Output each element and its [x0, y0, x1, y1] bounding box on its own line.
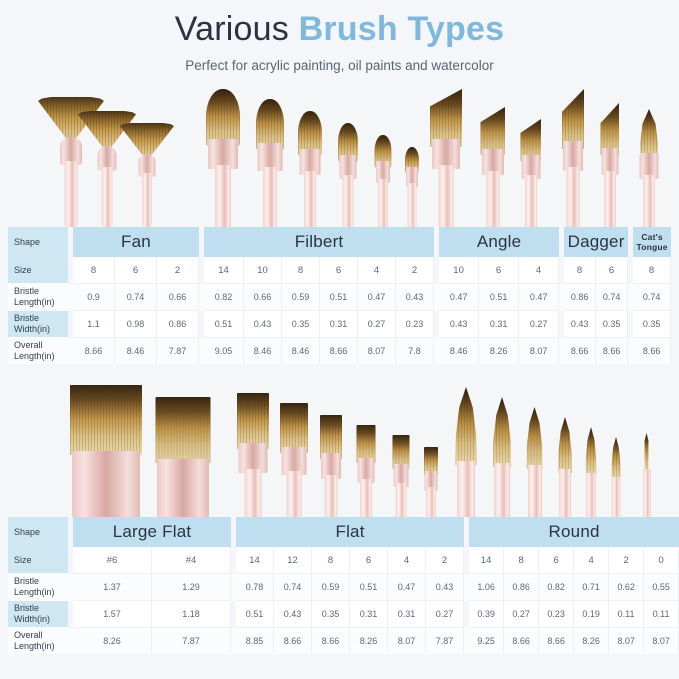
ferrule [72, 451, 140, 517]
section-spacer [0, 364, 679, 382]
handle [528, 465, 542, 517]
group-header-filbert: Filbert [204, 227, 434, 257]
brush-liner-1 [642, 421, 651, 517]
page-subtitle: Perfect for acrylic painting, oil paints… [0, 56, 679, 76]
cell-size: 2 [157, 257, 199, 284]
cell-bristle-length: 0.43 [396, 284, 434, 311]
cell-bristle-length: 0.82 [204, 284, 244, 311]
brush-fan-2 [120, 111, 174, 227]
group-header-large-flat: Large Flat [73, 517, 231, 547]
cell-size: 8 [504, 547, 539, 574]
brush-large-flat-6 [70, 385, 142, 517]
cell-bristle-length: 0.43 [426, 574, 464, 601]
cell-size: #4 [152, 547, 231, 574]
cell-bristle-width: 0.43 [244, 311, 282, 338]
handle [612, 477, 621, 517]
cell-overall-length: 8.26 [350, 628, 388, 654]
page-title: Various Brush Types [0, 8, 679, 50]
handle [486, 171, 499, 227]
cell-bristle-length: 0.74 [596, 284, 628, 311]
table-row-overall-length: OverallLength(in) 8.26 7.87 8.85 8.66 8.… [8, 628, 679, 654]
cell-size: 8 [564, 257, 596, 284]
group-header-fan: Fan [73, 227, 199, 257]
group-header-round: Round [469, 517, 679, 547]
cell-size: 6 [350, 547, 388, 574]
cell-bristle-width: 0.98 [115, 311, 157, 338]
row-label-line2: Length(in) [14, 587, 68, 598]
cell-overall-length: 7.8 [396, 338, 434, 364]
handle [378, 179, 388, 227]
cell-overall-length: 8.66 [320, 338, 358, 364]
cell-bristle-length: 0.47 [519, 284, 559, 311]
cell-bristle-width: 0.35 [282, 311, 320, 338]
cell-overall-length: 7.87 [152, 628, 231, 654]
cell-overall-length: 8.66 [633, 338, 671, 364]
cell-bristle-length: 0.9 [73, 284, 115, 311]
cell-overall-length: 8.85 [236, 628, 274, 654]
spec-table-2: Shape Large Flat Flat Round Liner Size #… [8, 517, 679, 654]
cell-bristle-length: 1.37 [73, 574, 152, 601]
handle [426, 487, 436, 517]
cell-bristle-length: 0.59 [312, 574, 350, 601]
row-label-bristle-width: BristleWidth(in) [8, 311, 68, 338]
spec-table-1-wrap: Shape Fan Filbert Angle Dagger Cat's Ton… [0, 227, 679, 364]
cell-bristle-width: 0.39 [469, 601, 504, 628]
bristle-head-icon [70, 385, 142, 455]
cell-overall-length: 8.07 [358, 338, 396, 364]
table-row-bristle-width: BristleWidth(in) 1.57 1.18 0.51 0.43 0.3… [8, 601, 679, 628]
cell-overall-length: 7.87 [157, 338, 199, 364]
cell-size: 4 [519, 257, 559, 284]
cell-bristle-length: 0.59 [282, 284, 320, 311]
cell-bristle-width: 0.19 [574, 601, 609, 628]
brush-filbert-8 [298, 102, 322, 227]
handle [559, 469, 571, 517]
cell-overall-length: 8.26 [574, 628, 609, 654]
cell-size: 2 [609, 547, 644, 574]
cell-bristle-width: 0.43 [564, 311, 596, 338]
cell-bristle-width: 0.43 [274, 601, 312, 628]
cell-bristle-width: 1.1 [73, 311, 115, 338]
brush-round-8 [490, 395, 514, 517]
ferrule [157, 459, 209, 517]
cell-size: #6 [73, 547, 152, 574]
handle [343, 175, 354, 227]
cell-size: 4 [574, 547, 609, 574]
cell-size: 8 [282, 257, 320, 284]
cell-bristle-length: 1.29 [152, 574, 231, 601]
cell-bristle-width: 0.27 [426, 601, 464, 628]
bristle-head-icon [490, 397, 514, 467]
cell-bristle-length: 0.66 [244, 284, 282, 311]
handle [604, 171, 616, 227]
cell-size: 10 [244, 257, 282, 284]
brush-filbert-4 [374, 122, 391, 227]
cell-bristle-width: 0.31 [350, 601, 388, 628]
brush-large-flat-4 [155, 395, 210, 517]
cell-overall-length: 8.66 [504, 628, 539, 654]
table-row-size: Size #6 #4 14 12 8 6 4 2 14 8 6 4 2 [8, 547, 679, 574]
brush-round-6 [524, 405, 545, 517]
cell-size: 6 [539, 547, 574, 574]
cell-bristle-width: 0.51 [204, 311, 244, 338]
cell-bristle-length: 0.74 [633, 284, 671, 311]
brush-photo-strip-1 [0, 82, 679, 227]
handle [586, 473, 596, 517]
row-label-line1: Bristle [14, 603, 68, 614]
row-label-size: Size [8, 547, 68, 574]
row-label-line1: Overall [14, 630, 68, 641]
cell-size: 6 [320, 257, 358, 284]
bristle-head-icon [643, 433, 650, 471]
brush-round-2 [584, 425, 598, 517]
group-header-dagger: Dagger [564, 227, 628, 257]
cell-bristle-width: 0.35 [312, 601, 350, 628]
table-row-shape: Shape Fan Filbert Angle Dagger Cat's Ton… [8, 227, 671, 257]
cell-size: 14 [204, 257, 244, 284]
cell-overall-length: 8.46 [244, 338, 282, 364]
brush-filbert-6 [338, 112, 358, 227]
cell-bristle-width: 0.43 [439, 311, 479, 338]
cell-overall-length: 8.66 [73, 338, 115, 364]
cell-overall-length: 8.46 [282, 338, 320, 364]
row-label-shape: Shape [8, 517, 68, 547]
row-label-line2: Length(in) [14, 351, 68, 362]
brush-photo-strip-2 [0, 382, 679, 517]
cell-bristle-length: 0.51 [320, 284, 358, 311]
cell-bristle-width: 1.57 [73, 601, 152, 628]
row-label-line1: Bristle [14, 286, 68, 297]
row-label-line2: Width(in) [14, 614, 68, 625]
handle [643, 175, 655, 227]
row-label-bristle-length: BristleLength(in) [8, 574, 68, 601]
cell-overall-length: 8.07 [644, 628, 679, 654]
cell-size: 12 [274, 547, 312, 574]
handle [325, 475, 338, 517]
cell-bristle-width: 0.27 [519, 311, 559, 338]
table-row-shape: Shape Large Flat Flat Round Liner [8, 517, 679, 547]
bristle-head-icon [237, 393, 269, 449]
cell-bristle-width: 0.27 [504, 601, 539, 628]
bristle-head-icon [524, 407, 545, 469]
cell-bristle-length: 0.51 [350, 574, 388, 601]
cell-bristle-width: 0.31 [479, 311, 519, 338]
cell-size: 6 [115, 257, 157, 284]
bristle-head-icon [556, 417, 574, 473]
handle [457, 461, 475, 517]
brush-round-0 [610, 433, 622, 517]
handle [494, 463, 510, 517]
cell-size: 14 [236, 547, 274, 574]
cell-overall-length: 8.26 [73, 628, 152, 654]
cell-bristle-width: 0.86 [157, 311, 199, 338]
brush-flat-12 [280, 397, 308, 517]
cell-bristle-width: 0.11 [644, 601, 679, 628]
cell-size: 14 [469, 547, 504, 574]
cell-bristle-length: 0.55 [644, 574, 679, 601]
brush-filbert-14 [206, 84, 240, 227]
handle [287, 471, 302, 517]
brush-photo-row-1 [0, 82, 679, 227]
cell-overall-length: 8.66 [312, 628, 350, 654]
brush-filbert-2 [405, 131, 419, 227]
cell-overall-length: 9.25 [469, 628, 504, 654]
cell-bristle-width: 1.18 [152, 601, 231, 628]
cell-size: 4 [358, 257, 396, 284]
cell-bristle-width: 0.27 [358, 311, 396, 338]
handle [567, 167, 580, 227]
brush-round-4 [556, 415, 574, 517]
page-title-accent: Brush Types [299, 10, 505, 48]
brush-cats-tongue-8 [638, 101, 660, 227]
bristle-head-icon [610, 437, 622, 479]
spec-table-1: Shape Fan Filbert Angle Dagger Cat's Ton… [8, 227, 671, 364]
cell-bristle-length: 0.78 [236, 574, 274, 601]
cell-bristle-width: 0.11 [609, 601, 644, 628]
table-row-overall-length: OverallLength(in) 8.66 8.46 7.87 9.05 8.… [8, 338, 671, 364]
brush-flat-4 [392, 423, 409, 517]
handle [525, 175, 537, 227]
brush-types-infographic: Various Brush Types Perfect for acrylic … [0, 0, 679, 679]
handle [408, 183, 417, 227]
cell-bristle-width: 0.35 [596, 311, 628, 338]
cell-size: 6 [596, 257, 628, 284]
bristle-head-icon [584, 427, 598, 475]
row-label-shape: Shape [8, 227, 68, 257]
cell-size: 4 [388, 547, 426, 574]
group-header-flat: Flat [236, 517, 464, 547]
bristle-head-icon [155, 397, 210, 463]
cell-overall-length: 8.07 [609, 628, 644, 654]
row-label-bristle-width: BristleWidth(in) [8, 601, 68, 628]
cell-bristle-width: 0.35 [633, 311, 671, 338]
handle [142, 173, 152, 227]
row-label-line2: Width(in) [14, 324, 68, 335]
cell-bristle-width: 0.23 [396, 311, 434, 338]
row-label-line2: Length(in) [14, 641, 68, 652]
cell-bristle-length: 0.82 [539, 574, 574, 601]
cell-overall-length: 8.66 [274, 628, 312, 654]
handle [65, 161, 78, 227]
cell-bristle-length: 0.74 [274, 574, 312, 601]
cell-size: 6 [479, 257, 519, 284]
handle [245, 469, 262, 517]
cell-overall-length: 8.46 [115, 338, 157, 364]
brush-round-14 [452, 385, 480, 517]
table-row-bristle-length: BristleLength(in) 0.9 0.74 0.66 0.82 0.6… [8, 284, 671, 311]
handle [263, 167, 277, 227]
cell-overall-length: 8.66 [539, 628, 574, 654]
cell-bristle-width: 0.23 [539, 601, 574, 628]
brush-flat-8 [320, 407, 342, 517]
page-title-plain: Various [175, 10, 299, 48]
table-row-bristle-length: BristleLength(in) 1.37 1.29 0.78 0.74 0.… [8, 574, 679, 601]
cell-bristle-length: 0.47 [439, 284, 479, 311]
cell-overall-length: 8.66 [596, 338, 628, 364]
brush-dagger-8 [562, 84, 584, 227]
table-row-size: Size 8 6 2 14 10 8 6 4 2 10 6 4 [8, 257, 671, 284]
row-label-size: Size [8, 257, 68, 284]
bristle-head-icon [280, 403, 308, 453]
row-label-line1: Bristle [14, 313, 68, 324]
handle [304, 171, 316, 227]
handle [395, 483, 406, 517]
cell-overall-length: 8.26 [479, 338, 519, 364]
handle [102, 167, 113, 227]
cell-bristle-width: 0.31 [320, 311, 358, 338]
cell-bristle-length: 0.71 [574, 574, 609, 601]
bristle-head-icon [480, 107, 505, 155]
cell-bristle-width: 0.31 [388, 601, 426, 628]
brush-angle-6 [480, 99, 505, 227]
cell-bristle-length: 0.51 [479, 284, 519, 311]
cell-overall-length: 8.07 [388, 628, 426, 654]
brush-dagger-6 [600, 97, 619, 227]
cell-bristle-length: 0.86 [504, 574, 539, 601]
spec-table-2-wrap: Shape Large Flat Flat Round Liner Size #… [0, 517, 679, 654]
cell-bristle-length: 0.62 [609, 574, 644, 601]
cell-size: 2 [396, 257, 434, 284]
brush-angle-4 [520, 109, 541, 227]
page-header: Various Brush Types Perfect for acrylic … [0, 0, 679, 76]
cell-size: 2 [426, 547, 464, 574]
row-label-overall-length: OverallLength(in) [8, 338, 68, 364]
row-label-line2: Length(in) [14, 297, 68, 308]
row-label-bristle-length: BristleLength(in) [8, 284, 68, 311]
cell-size: 0 [644, 547, 679, 574]
cell-bristle-width: 0.51 [236, 601, 274, 628]
bristle-head-icon [562, 89, 584, 149]
brush-photo-row-2 [0, 382, 679, 517]
table-row-bristle-width: BristleWidth(in) 1.1 0.98 0.86 0.51 0.43… [8, 311, 671, 338]
cell-overall-length: 7.87 [426, 628, 464, 654]
cell-bristle-length: 0.47 [388, 574, 426, 601]
handle [439, 165, 454, 227]
bristle-head-icon [638, 109, 660, 159]
cell-overall-length: 8.07 [519, 338, 559, 364]
cell-size: 8 [312, 547, 350, 574]
brush-flat-2 [424, 433, 438, 517]
bristle-head-icon [452, 387, 480, 465]
row-label-overall-length: OverallLength(in) [8, 628, 68, 654]
brush-flat-6 [356, 415, 375, 517]
cell-bristle-length: 0.47 [358, 284, 396, 311]
brush-filbert-10 [256, 92, 284, 227]
row-label-line1: Bristle [14, 576, 68, 587]
row-label-line1: Overall [14, 340, 68, 351]
brush-flat-14 [237, 389, 269, 517]
cell-bristle-length: 0.74 [115, 284, 157, 311]
cell-bristle-length: 0.66 [157, 284, 199, 311]
brush-angle-10 [430, 84, 462, 227]
cell-size: 8 [73, 257, 115, 284]
group-header-cats-tongue: Cat's Tongue [633, 227, 671, 257]
cell-size: 10 [439, 257, 479, 284]
cell-bristle-length: 1.06 [469, 574, 504, 601]
handle [215, 165, 231, 227]
cell-size: 8 [633, 257, 671, 284]
handle [643, 469, 651, 517]
cell-bristle-length: 0.86 [564, 284, 596, 311]
cell-overall-length: 9.05 [204, 338, 244, 364]
group-header-angle: Angle [439, 227, 559, 257]
cell-overall-length: 8.66 [564, 338, 596, 364]
handle [360, 479, 372, 517]
cell-overall-length: 8.46 [439, 338, 479, 364]
